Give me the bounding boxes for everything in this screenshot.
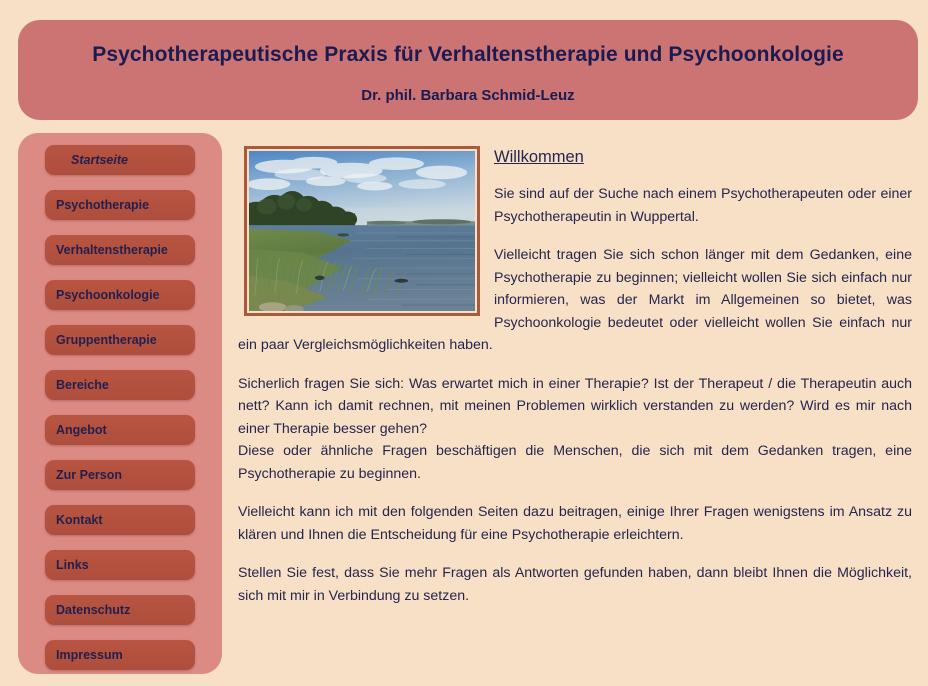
sidebar-item-label: Gruppentherapie [56, 325, 189, 355]
sidebar-item-impressum[interactable]: Impressum [45, 640, 195, 670]
paragraph-fragen: Sicherlich fragen Sie sich: Was erwartet… [238, 373, 912, 441]
lake-landscape-photo [249, 151, 475, 311]
sidebar-item-kontakt[interactable]: Kontakt [45, 505, 195, 535]
sidebar-item-label: Zur Person [56, 460, 189, 490]
paragraph-beitragen: Vielleicht kann ich mit den folgenden Se… [238, 501, 912, 546]
sidebar-item-label: Datenschutz [56, 595, 189, 625]
welcome-photo-frame [244, 146, 480, 316]
sidebar-item-gruppentherapie[interactable]: Gruppentherapie [45, 325, 195, 355]
sidebar-item-psychoonkologie[interactable]: Psychoonkologie [45, 280, 195, 310]
sidebar-item-psychotherapie[interactable]: Psychotherapie [45, 190, 195, 220]
sidebar-item-label: Startseite [71, 145, 189, 175]
main-content: Willkommen Sie sind auf der Suche nach e… [232, 133, 920, 674]
site-header-banner: Psychotherapeutische Praxis für Verhalte… [18, 20, 918, 120]
sidebar-item-label: Verhaltenstherapie [56, 235, 189, 265]
sidebar-item-bereiche[interactable]: Bereiche [45, 370, 195, 400]
sidebar-item-label: Psychoonkologie [56, 280, 189, 310]
page-title: Psychotherapeutische Praxis für Verhalte… [92, 43, 844, 67]
sidebar-item-zur-person[interactable]: Zur Person [45, 460, 195, 490]
sidebar-item-label: Kontakt [56, 505, 189, 535]
sidebar-item-links[interactable]: Links [45, 550, 195, 580]
sidebar-navigation: StartseitePsychotherapieVerhaltenstherap… [18, 133, 222, 674]
sidebar-item-label: Angebot [56, 415, 189, 445]
sidebar-item-verhaltenstherapie[interactable]: Verhaltenstherapie [45, 235, 195, 265]
sidebar-item-angebot[interactable]: Angebot [45, 415, 195, 445]
sidebar-item-startseite[interactable]: Startseite [45, 145, 195, 175]
paragraph-kontakt: Stellen Sie fest, dass Sie mehr Fragen a… [238, 562, 912, 607]
sidebar-item-label: Links [56, 550, 189, 580]
sidebar-item-label: Impressum [56, 640, 189, 670]
sidebar-item-label: Bereiche [56, 370, 189, 400]
page-subtitle: Dr. phil. Barbara Schmid-Leuz [361, 87, 574, 104]
sidebar-item-label: Psychotherapie [56, 190, 189, 220]
sidebar-item-datenschutz[interactable]: Datenschutz [45, 595, 195, 625]
paragraph-menschen: Diese oder ähnliche Fragen beschäftigen … [238, 440, 912, 485]
